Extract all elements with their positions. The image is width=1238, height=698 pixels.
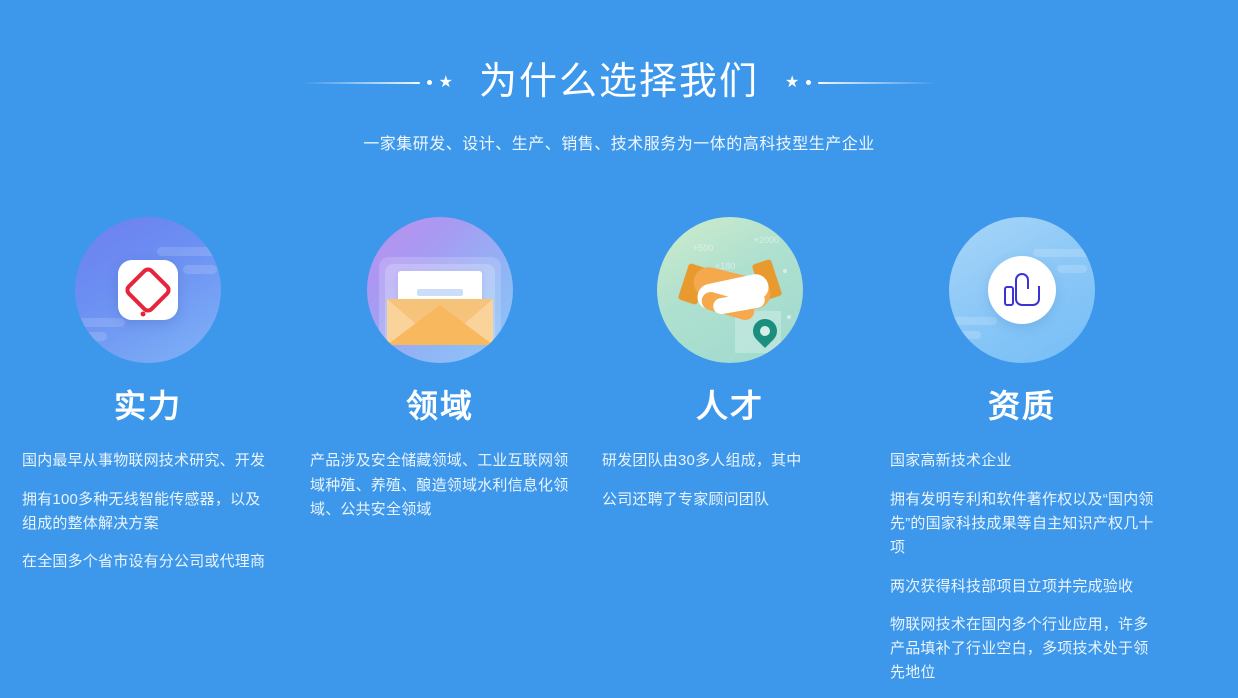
column-body: 研发团队由30多人组成，其中 公司还聘了专家顾问团队 (602, 449, 858, 512)
decoration-line-left (302, 82, 420, 84)
decoration-dot-right (806, 80, 811, 85)
feature-paragraph: 国家高新技术企业 (890, 449, 1154, 473)
decoration-line-right (818, 82, 936, 84)
star-icon-left: ★ (439, 75, 453, 91)
icon-container: +500 +2000 +180 (602, 205, 858, 375)
feature-paragraph: 拥有发明专利和软件著作权以及“国内领先”的国家科技成果等自主知识产权几十项 (890, 488, 1154, 561)
feature-paragraph: 物联网技术在国内多个行业应用，许多产品填补了行业空白，多项技术处于领先地位 (890, 613, 1154, 686)
feature-columns: 实力 国内最早从事物联网技术研究、开发 拥有100多种无线智能传感器，以及组成的… (0, 205, 1238, 686)
icon-container (310, 205, 570, 375)
section-header: ★ 为什么选择我们 ★ 一家集研发、设计、生产、销售、技术服务为一体的高科技型生… (0, 62, 1238, 154)
star-icon-right: ★ (785, 75, 799, 91)
handshake-icon: +500 +2000 +180 (657, 217, 803, 363)
feature-paragraph: 研发团队由30多人组成，其中 (602, 449, 858, 473)
feature-column-qualification: 资质 国家高新技术企业 拥有发明专利和软件著作权以及“国内领先”的国家科技成果等… (876, 205, 1168, 686)
column-title: 人才 (602, 387, 858, 425)
diamond-icon (123, 265, 174, 316)
section-subtitle: 一家集研发、设计、生产、销售、技术服务为一体的高科技型生产企业 (0, 130, 1238, 154)
why-choose-us-section: ★ 为什么选择我们 ★ 一家集研发、设计、生产、销售、技术服务为一体的高科技型生… (0, 0, 1238, 698)
feature-paragraph: 在全国多个省市设有分公司或代理商 (22, 550, 274, 574)
badge-plate (118, 260, 178, 320)
column-title: 资质 (890, 387, 1154, 425)
title-row: ★ 为什么选择我们 ★ (0, 62, 1238, 104)
feature-column-strength: 实力 国内最早从事物联网技术研究、开发 拥有100多种无线智能传感器，以及组成的… (0, 205, 292, 686)
title-decoration-right: ★ (785, 75, 936, 91)
feature-paragraph: 两次获得科技部项目立项并完成验收 (890, 575, 1154, 599)
envelope-letter-icon (367, 217, 513, 363)
icon-container (22, 205, 274, 375)
column-body: 国家高新技术企业 拥有发明专利和软件著作权以及“国内领先”的国家科技成果等自主知… (890, 449, 1154, 685)
feature-paragraph: 拥有100多种无线智能传感器，以及组成的整体解决方案 (22, 488, 274, 537)
column-body: 产品涉及安全储藏领域、工业互联网领域种殖、养殖、酿造领域水利信息化领域、公共安全… (310, 449, 570, 522)
column-title: 领域 (310, 387, 570, 425)
diamond-badge-icon (75, 217, 221, 363)
page-title: 为什么选择我们 (479, 62, 759, 104)
feature-column-talent: +500 +2000 +180 人才 研发团队由30多人组成，其中 公司 (584, 205, 876, 686)
feature-paragraph: 国内最早从事物联网技术研究、开发 (22, 449, 274, 473)
column-body: 国内最早从事物联网技术研究、开发 拥有100多种无线智能传感器，以及组成的整体解… (22, 449, 274, 574)
thumb-glyph (1004, 274, 1040, 306)
feature-paragraph: 公司还聘了专家顾问团队 (602, 488, 858, 512)
feature-column-domain: 领域 产品涉及安全储藏领域、工业互联网领域种殖、养殖、酿造领域水利信息化领域、公… (292, 205, 584, 686)
column-title: 实力 (22, 387, 274, 425)
decoration-dot-left (427, 80, 432, 85)
title-decoration-left: ★ (302, 75, 453, 91)
feature-paragraph: 产品涉及安全储藏领域、工业互联网领域种殖、养殖、酿造领域水利信息化领域、公共安全… (310, 449, 570, 522)
thumbs-up-icon (949, 217, 1095, 363)
icon-container (890, 205, 1154, 375)
thumb-plate (988, 256, 1056, 324)
